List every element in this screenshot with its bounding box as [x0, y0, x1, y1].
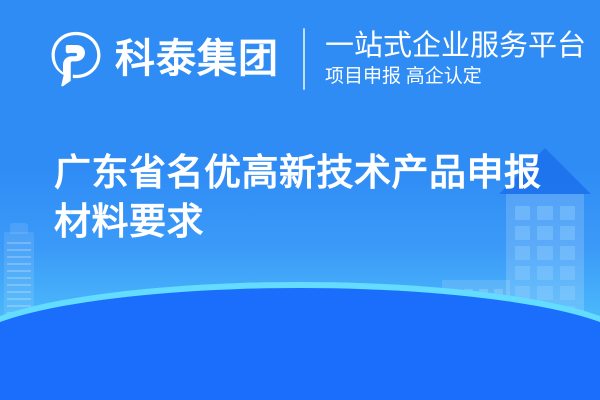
- slogan-sub-text: 项目申报 高企认定: [325, 66, 586, 88]
- window-cell: [515, 246, 530, 260]
- circle-monogram-logo-icon: [47, 30, 105, 88]
- window-cell: [537, 246, 552, 260]
- slogan-main-text: 一站式企业服务平台: [325, 30, 586, 62]
- window-cell: [537, 286, 552, 300]
- window-cell: [560, 246, 575, 260]
- slogan-group: 一站式企业服务平台 项目申报 高企认定: [325, 30, 586, 87]
- window-cell: [560, 206, 575, 220]
- window-cell: [560, 226, 575, 240]
- window-cell: [560, 286, 575, 300]
- ground-shape: [0, 288, 600, 400]
- window-cell: [515, 266, 530, 280]
- window-cell: [560, 266, 575, 280]
- promo-banner: 科泰集团 一站式企业服务平台 项目申报 高企认定 广东省名优高新技术产品申报材料…: [0, 0, 600, 400]
- banner-header: 科泰集团 一站式企业服务平台 项目申报 高企认定: [47, 22, 574, 96]
- vertical-divider-icon: [303, 28, 305, 90]
- page-title: 广东省名优高新技术产品申报材料要求: [54, 148, 554, 246]
- window-cell: [537, 266, 552, 280]
- brand-name: 科泰集团: [115, 39, 279, 79]
